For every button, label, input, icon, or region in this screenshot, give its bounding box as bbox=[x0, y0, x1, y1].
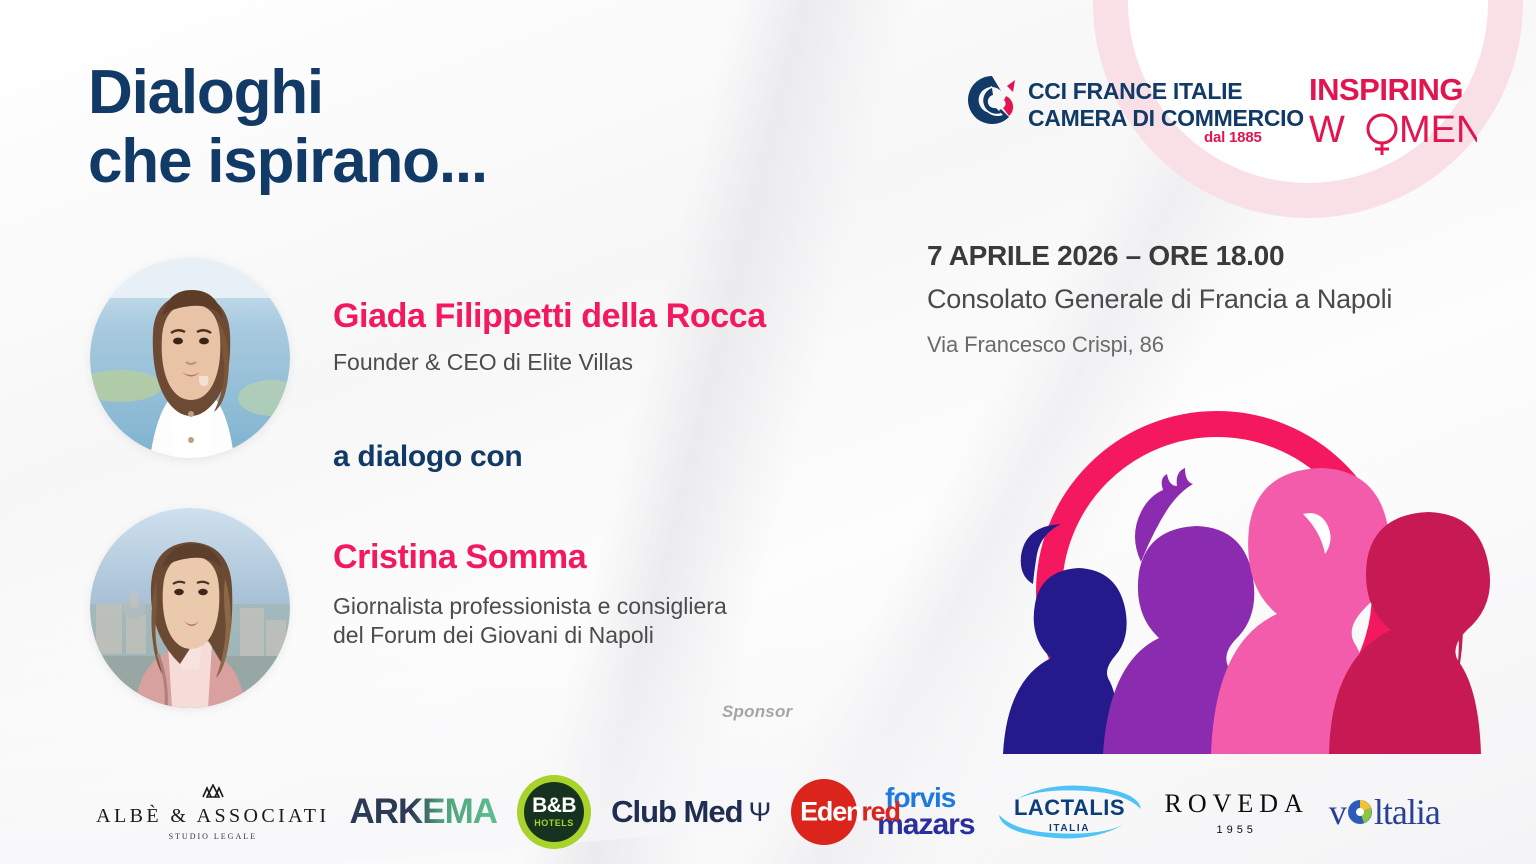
sponsor-logo-albe-associati: ALBÈ & ASSOCIATI STUDIO LEGALE bbox=[96, 772, 329, 852]
sponsor-logo-bb-hotels: B&B HOTELS bbox=[517, 772, 591, 852]
speaker-role: Founder & CEO di Elite Villas bbox=[333, 349, 633, 376]
sponsor-name: ALBÈ & ASSOCIATI bbox=[96, 805, 329, 828]
event-poster: Dialoghi che ispirano... CCI FRANCE ITAL… bbox=[0, 0, 1536, 864]
speaker-role: Giornalista professionista e consigliera… bbox=[333, 592, 727, 651]
sponsor-name: B&B bbox=[532, 796, 576, 816]
speaker-name: Cristina Somma bbox=[333, 538, 586, 577]
svg-text:MEN: MEN bbox=[1399, 109, 1477, 151]
cci-logo-mark bbox=[963, 72, 1021, 133]
sponsor-logo-club-med: Club Med Ψ bbox=[611, 772, 771, 852]
voltalia-globe-icon bbox=[1347, 799, 1373, 825]
women-silhouettes-graphic bbox=[937, 402, 1497, 759]
portrait-cristina-illustration bbox=[90, 508, 290, 708]
sponsor-subtitle: STUDIO LEGALE bbox=[96, 832, 329, 841]
page-title: Dialoghi che ispirano... bbox=[88, 58, 487, 197]
albe-crest-icon bbox=[193, 784, 233, 800]
sponsor-logos-bar: ALBÈ & ASSOCIATI STUDIO LEGALE ARKEMA B&… bbox=[0, 760, 1536, 864]
sponsor-name: ARKEMA bbox=[349, 792, 497, 832]
trident-icon: Ψ bbox=[749, 797, 772, 828]
svg-text:INSPIRING: INSPIRING bbox=[1309, 72, 1463, 107]
sponsor-logo-voltalia: v ltalia bbox=[1329, 772, 1440, 852]
portrait-giada-illustration bbox=[90, 258, 290, 458]
sponsor-name: LACTALIS bbox=[995, 795, 1145, 821]
speaker-name: Giada Filippetti della Rocca bbox=[333, 297, 766, 336]
sponsor-name-suffix: ltalia bbox=[1374, 791, 1440, 833]
sponsor-logo-roveda: ROVEDA 1955 bbox=[1165, 772, 1309, 852]
inspiring-women-logo: INSPIRING W MEN bbox=[1309, 70, 1477, 161]
avatar bbox=[90, 508, 290, 708]
sponsor-label: Sponsor bbox=[722, 702, 792, 722]
sponsor-subtitle: ITALIA bbox=[995, 823, 1145, 834]
sponsor-name: ROVEDA bbox=[1165, 789, 1309, 819]
sponsor-name: Eden bbox=[800, 797, 861, 827]
event-address: Via Francesco Crispi, 86 bbox=[927, 332, 1164, 358]
cci-logo-text: CCI FRANCE ITALIE CAMERA DI COMMERCIO bbox=[1028, 78, 1304, 132]
sponsor-logo-edenred: Edenred bbox=[791, 772, 857, 852]
cci-since-text: dal 1885 bbox=[1204, 129, 1262, 146]
sponsor-logo-lactalis-italia: LACTALIS ITALIA bbox=[995, 772, 1145, 852]
event-date: 7 APRILE 2026 – ORE 18.00 bbox=[927, 240, 1284, 272]
sponsor-subtitle: red bbox=[861, 797, 899, 827]
sponsor-name-prefix: v bbox=[1329, 791, 1346, 833]
sponsor-name: Club Med bbox=[611, 794, 743, 830]
event-venue: Consolato Generale di Francia a Napoli bbox=[927, 284, 1392, 315]
connector-label: a dialogo con bbox=[333, 440, 522, 474]
sponsor-logo-arkema: ARKEMA bbox=[349, 772, 497, 852]
sponsor-subtitle: 1955 bbox=[1165, 824, 1309, 836]
svg-text:W: W bbox=[1309, 109, 1345, 151]
avatar bbox=[90, 258, 290, 458]
sponsor-subtitle: HOTELS bbox=[534, 818, 574, 828]
